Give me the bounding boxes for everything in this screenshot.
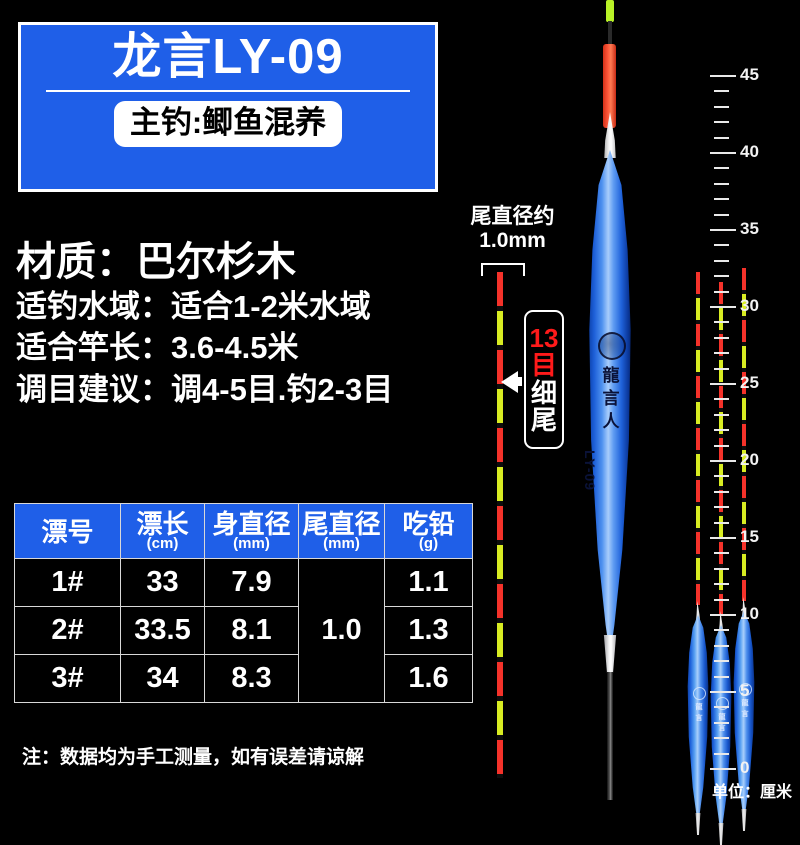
ruler-minor-tick (714, 599, 729, 601)
ruler-tick-label: 25 (740, 373, 759, 393)
spec-label-rod: 适合竿长： (16, 330, 171, 365)
cell-length: 34 (121, 655, 205, 703)
float-brand-char-3: 人 (600, 411, 622, 434)
table-header-length: 漂长(cm) (121, 504, 205, 559)
float-brand-char-1: 龍 (600, 365, 622, 388)
ruler-minor-tick (714, 676, 729, 678)
tail-segment (497, 545, 503, 579)
ruler-minor-tick (714, 368, 729, 370)
eye-count-number: 13 (530, 325, 559, 352)
ruler-minor-tick (714, 398, 729, 400)
tail-caption-line1: 尾直径约 (450, 205, 575, 229)
float-tip-green (606, 0, 614, 22)
tail-segment (497, 389, 503, 423)
tail-scale-strip (497, 272, 503, 778)
ruler-major-tick (710, 460, 736, 462)
spec-label-water: 适钓水域： (16, 289, 171, 324)
main-float-illustration: 龍 言 人 LY-09 (570, 0, 650, 800)
float-brand-text: 龍 言 人 (600, 365, 622, 434)
ruler-tick-label: 10 (740, 604, 759, 624)
cell-taildia-merged: 1.0 (299, 559, 385, 703)
table-header-weight: 吃铅(g) (385, 504, 473, 559)
cell-bodydia: 8.1 (205, 607, 299, 655)
ruler-minor-tick (714, 491, 729, 493)
ruler-minor-tick (714, 214, 729, 216)
eye-desc-char-1: 细 (531, 380, 557, 407)
ruler-minor-tick (714, 737, 729, 739)
ruler-minor-tick (714, 568, 729, 570)
spec-row-water: 适钓水域：适合1-2米水域 (16, 291, 486, 323)
ruler-major-tick (710, 768, 736, 770)
tail-gap (497, 774, 503, 778)
ruler-tick-label: 0 (740, 758, 749, 778)
table-row: 2# 33.5 8.1 1.3 (15, 607, 473, 655)
ruler-major-tick (710, 75, 736, 77)
tail-caption-line2: 1.0mm (450, 229, 575, 253)
float-bottom-stem (607, 672, 613, 800)
ruler-minor-tick (714, 291, 729, 293)
tail-segment (497, 428, 503, 462)
ruler-minor-tick (714, 106, 729, 108)
ruler-tick-label: 40 (740, 142, 759, 162)
spec-row-material: 材质：巴尔杉木 (16, 242, 486, 283)
tail-segment (497, 701, 503, 735)
ruler-minor-tick (714, 275, 729, 277)
cell-bodydia: 7.9 (205, 559, 299, 607)
ruler-minor-tick (714, 198, 729, 200)
eye-count-unit: 目 (531, 352, 557, 379)
tail-segment (497, 623, 503, 657)
ruler-major-tick (710, 383, 736, 385)
cell-weight: 1.3 (385, 607, 473, 655)
ruler-major-tick (710, 691, 736, 693)
ruler-minor-tick (714, 244, 729, 246)
float-brand-logo-icon (598, 332, 626, 360)
ruler-minor-tick (714, 90, 729, 92)
tail-segment (497, 467, 503, 501)
caliper-bracket-icon (481, 263, 525, 276)
tail-segment (497, 311, 503, 345)
tail-segment (497, 740, 503, 774)
ruler-minor-tick (714, 167, 729, 169)
table-header-bodydia: 身直径(mm) (205, 504, 299, 559)
cell-no: 1# (15, 559, 121, 607)
eye-count-badge: 13 目 细 尾 (524, 310, 564, 449)
ruler-unit-label: 单位：厘米 (712, 778, 792, 802)
ruler-minor-tick (714, 321, 729, 323)
spec-value-rod: 3.6-4.5米 (171, 330, 299, 365)
ruler-minor-tick (714, 753, 729, 755)
ruler-minor-tick (714, 583, 729, 585)
page-title: 龙言LY-09 (112, 29, 343, 85)
ruler-minor-tick (714, 552, 729, 554)
product-subtitle: 主钓:鲫鱼混养 (114, 101, 342, 147)
cell-weight: 1.1 (385, 559, 473, 607)
measuring-ruler: 单位：厘米 051015202530354045 (700, 0, 800, 800)
tail-diameter-caption: 尾直径约 1.0mm (450, 205, 575, 252)
ruler-minor-tick (714, 121, 729, 123)
ruler-minor-tick (714, 475, 729, 477)
ruler-tick-label: 5 (740, 681, 749, 701)
ruler-tick-label: 35 (740, 219, 759, 239)
ruler-minor-tick (714, 183, 729, 185)
cell-bodydia: 8.3 (205, 655, 299, 703)
spec-value-material: 巴尔杉木 (136, 240, 296, 284)
ruler-tick-label: 45 (740, 65, 759, 85)
ruler-minor-tick (714, 660, 729, 662)
cell-no: 3# (15, 655, 121, 703)
ruler-minor-tick (714, 429, 729, 431)
ruler-minor-tick (714, 445, 729, 447)
ruler-minor-tick (714, 629, 729, 631)
ruler-major-tick (710, 306, 736, 308)
ruler-minor-tick (714, 506, 729, 508)
ruler-minor-tick (714, 260, 729, 262)
tail-segment (497, 662, 503, 696)
ruler-minor-tick (714, 137, 729, 139)
ruler-minor-tick (714, 645, 729, 647)
tail-segment (497, 272, 503, 306)
small-float-lower-collar (694, 813, 702, 835)
table-header-taildia: 尾直径(mm) (299, 504, 385, 559)
header-divider (46, 90, 410, 92)
ruler-minor-tick (714, 414, 729, 416)
ruler-tick-label: 30 (740, 296, 759, 316)
ruler-minor-tick (714, 722, 729, 724)
tail-segment (497, 506, 503, 540)
pointer-arrow-icon (501, 371, 518, 393)
spec-row-tuning: 调目建议：调4-5目.钓2-3目 (16, 374, 486, 406)
ruler-minor-tick (714, 522, 729, 524)
ruler-minor-tick (714, 337, 729, 339)
ruler-major-tick (710, 614, 736, 616)
spec-table: 漂号 漂长(cm) 身直径(mm) 尾直径(mm) 吃铅(g) 1# 33 7.… (14, 503, 473, 703)
ruler-tick-label: 15 (740, 527, 759, 547)
small-float-lower-collar (717, 823, 725, 845)
table-header-row: 漂号 漂长(cm) 身直径(mm) 尾直径(mm) 吃铅(g) (15, 504, 473, 559)
ruler-major-tick (710, 152, 736, 154)
cell-length: 33 (121, 559, 205, 607)
spec-label-tuning: 调目建议： (16, 372, 171, 407)
cell-no: 2# (15, 607, 121, 655)
table-header-no: 漂号 (15, 504, 121, 559)
spec-list: 材质：巴尔杉木 适钓水域：适合1-2米水域 适合竿长：3.6-4.5米 调目建议… (16, 242, 486, 416)
ruler-minor-tick (714, 352, 729, 354)
table-row: 1# 33 7.9 1.0 1.1 (15, 559, 473, 607)
small-float-lower-collar (740, 809, 748, 831)
product-header-box: 龙言LY-09 主钓:鲫鱼混养 (18, 22, 438, 192)
ruler-major-tick (710, 537, 736, 539)
pointer-arrow-stem-icon (518, 377, 522, 386)
table-footnote: 注：数据均为手工测量，如有误差请谅解 (22, 742, 364, 769)
eye-desc-char-2: 尾 (531, 407, 557, 434)
spec-label-material: 材质： (16, 240, 136, 284)
spec-value-tuning: 调4-5目.钓2-3目 (171, 372, 393, 407)
table-row: 3# 34 8.3 1.6 (15, 655, 473, 703)
ruler-major-tick (710, 229, 736, 231)
cell-weight: 1.6 (385, 655, 473, 703)
spec-row-rod: 适合竿长：3.6-4.5米 (16, 332, 486, 364)
float-brand-char-2: 言 (600, 388, 622, 411)
tail-segment (497, 584, 503, 618)
ruler-minor-tick (714, 706, 729, 708)
float-model-text: LY-09 (582, 450, 598, 491)
ruler-tick-label: 20 (740, 450, 759, 470)
cell-length: 33.5 (121, 607, 205, 655)
product-image-canvas: 龙言LY-09 主钓:鲫鱼混养 材质：巴尔杉木 适钓水域：适合1-2米水域 适合… (0, 0, 800, 800)
spec-value-water: 适合1-2米水域 (171, 289, 371, 324)
